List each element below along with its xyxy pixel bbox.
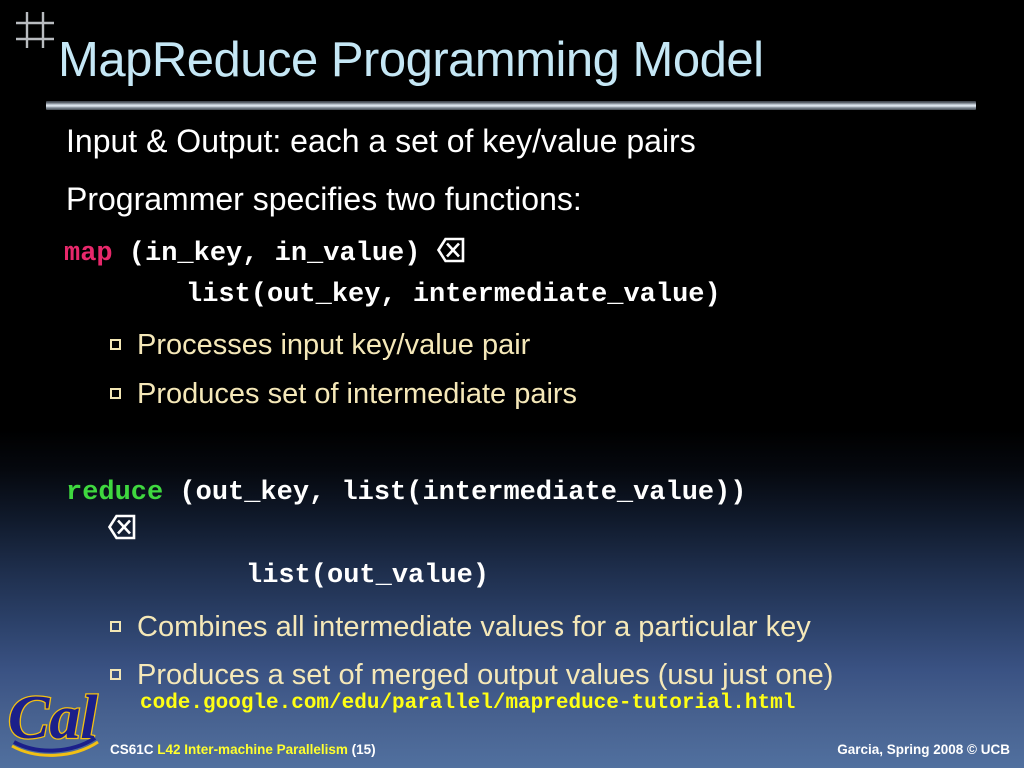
map-signature-line: map (in_key, in_value)	[64, 234, 465, 274]
missing-glyph-box-icon	[108, 514, 136, 540]
square-bullet-icon	[110, 388, 121, 399]
footer-left: CS61C L42 Inter-machine Parallelism (15)	[110, 742, 376, 757]
footer-slide-number: (15)	[352, 742, 376, 757]
list-item: Processes input key/value pair	[110, 328, 530, 362]
reduce-keyword: reduce	[66, 478, 163, 508]
square-bullet-icon	[110, 621, 121, 632]
list-item-label: Produces a set of merged output values (…	[137, 659, 833, 691]
lead-line-input-output: Input & Output: each a set of key/value …	[66, 122, 696, 160]
square-bullet-icon	[110, 339, 121, 350]
missing-glyph-box-icon	[437, 237, 465, 263]
reduce-signature-line: reduce (out_key, list(intermediate_value…	[66, 473, 747, 513]
title-divider-rule	[46, 101, 976, 110]
list-item: Produces set of intermediate pairs	[110, 377, 577, 411]
lead-line-two-functions: Programmer specifies two functions:	[66, 180, 582, 218]
footer-credit: Garcia, Spring 2008 © UCB	[837, 742, 1010, 757]
list-item-label: Produces set of intermediate pairs	[137, 378, 577, 410]
reduce-signature-args: (out_key, list(intermediate_value))	[163, 478, 746, 508]
presentation-slide: MapReduce Programming Model Input & Outp…	[0, 0, 1024, 768]
map-return-line: list(out_key, intermediate_value)	[186, 275, 721, 315]
tutorial-url[interactable]: code.google.com/edu/parallel/mapreduce-t…	[140, 692, 795, 715]
list-item-label: Processes input key/value pair	[137, 329, 530, 361]
cal-logo: Cal	[2, 668, 110, 764]
map-signature-args: (in_key, in_value)	[113, 239, 437, 269]
reduce-return-line: list(out_value)	[246, 556, 489, 596]
map-keyword: map	[64, 239, 113, 269]
footer-lecture-title: L42 Inter-machine Parallelism	[157, 742, 348, 757]
list-item: Produces a set of merged output values (…	[110, 658, 833, 692]
footer-course-code: CS61C	[110, 742, 154, 757]
hash-grid-icon	[14, 10, 56, 50]
list-item-label: Combines all intermediate values for a p…	[137, 611, 811, 643]
reduce-arrow-wrapped	[108, 511, 136, 551]
list-item: Combines all intermediate values for a p…	[110, 610, 811, 644]
square-bullet-icon	[110, 669, 121, 680]
slide-title: MapReduce Programming Model	[58, 32, 764, 88]
